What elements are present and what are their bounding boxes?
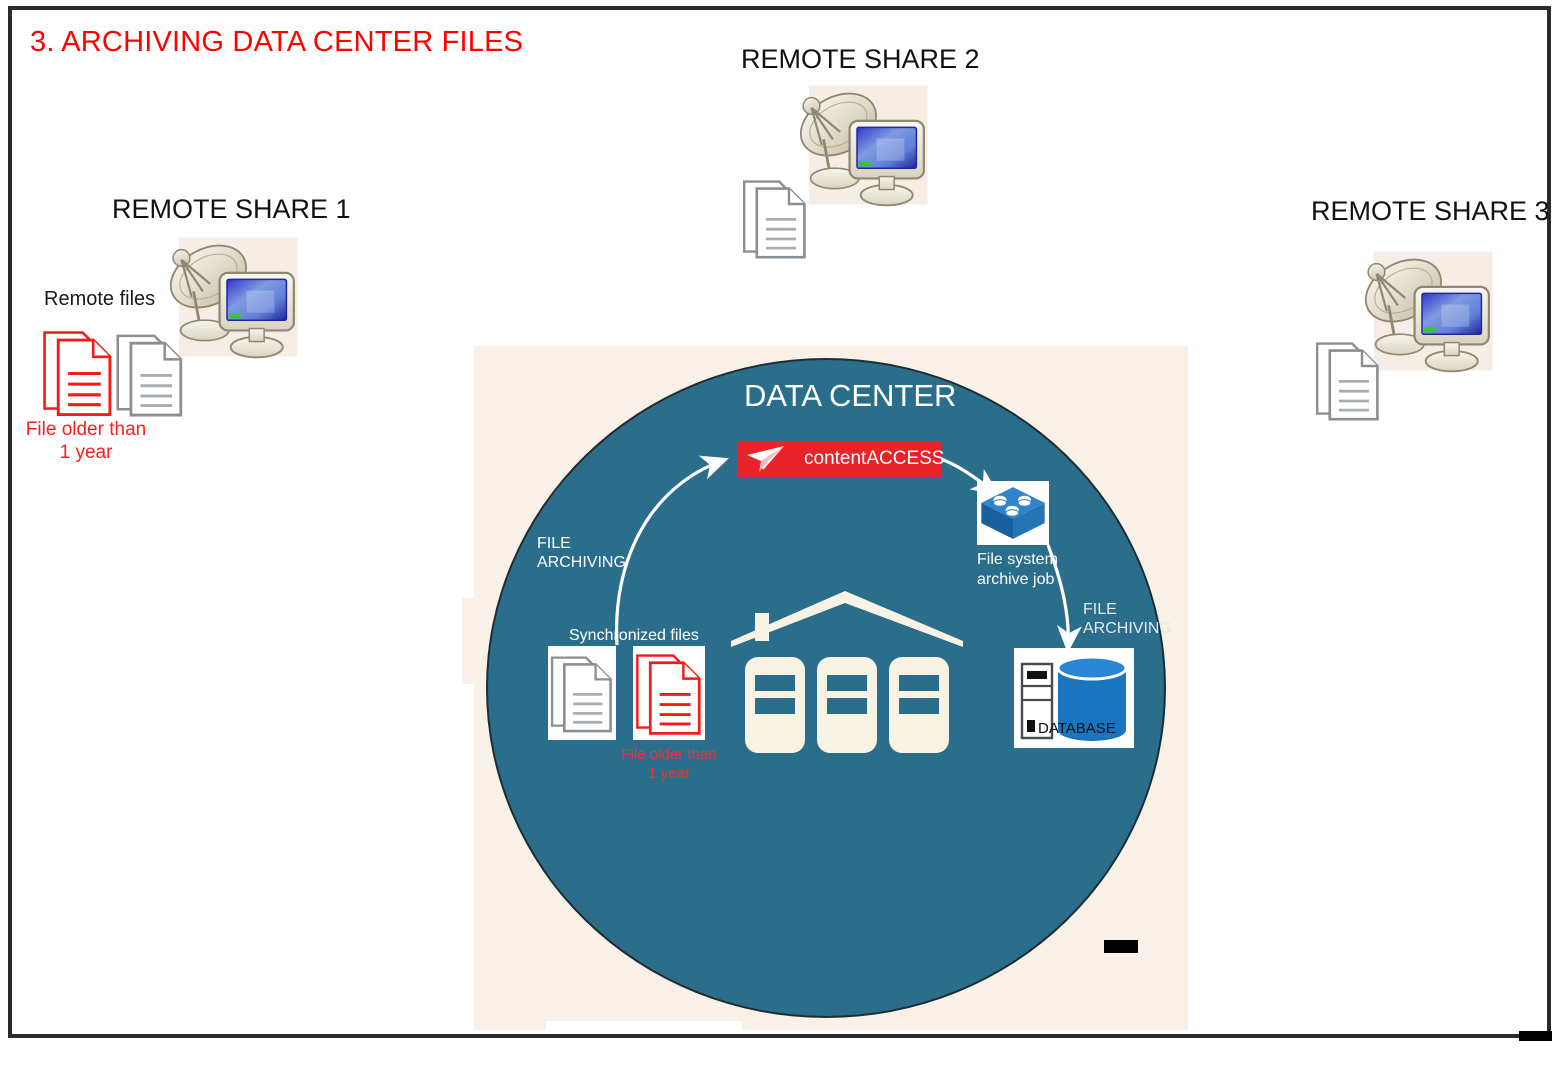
arrow-files-to-contentaccess: [617, 460, 724, 645]
archive-job-box-icon: [977, 481, 1049, 545]
diagram-canvas: 3. ARCHIVING DATA CENTER FILES REMOTE SH…: [0, 0, 1561, 1084]
archive-job-tile[interactable]: [977, 481, 1049, 545]
redaction-bar-corner: [1519, 1031, 1552, 1041]
flow-arrows: [0, 0, 1561, 1084]
synchronized-files-label: Synchronized files: [569, 626, 699, 646]
contentaccess-label: contentACCESS: [804, 448, 944, 470]
document-stack-red-icon-dc: [633, 646, 705, 740]
contentaccess-banner[interactable]: contentACCESS: [737, 441, 941, 477]
flow-label-right-line1: FILE: [1083, 600, 1117, 620]
paper-plane-icon: [746, 444, 786, 474]
synchronized-gray-files-tile: [548, 646, 616, 740]
flow-label-right-line2: ARCHIVING: [1083, 619, 1172, 639]
redaction-bar-center: [1104, 940, 1138, 953]
database-label: DATABASE: [1038, 720, 1116, 737]
synchronized-red-files-tile: [633, 646, 705, 740]
dc-aged-note-line2: 1 year: [598, 764, 740, 783]
archive-job-label-line1: File system: [977, 550, 1058, 570]
flow-label-left-line1: FILE: [537, 534, 571, 554]
database-tile[interactable]: DATABASE: [1014, 648, 1134, 748]
dc-aged-note-line1: File older than: [598, 745, 740, 764]
document-stack-gray-icon-dc: [548, 646, 616, 740]
archive-job-label-line2: archive job: [977, 570, 1054, 590]
flow-label-left-line2: ARCHIVING: [537, 553, 626, 573]
